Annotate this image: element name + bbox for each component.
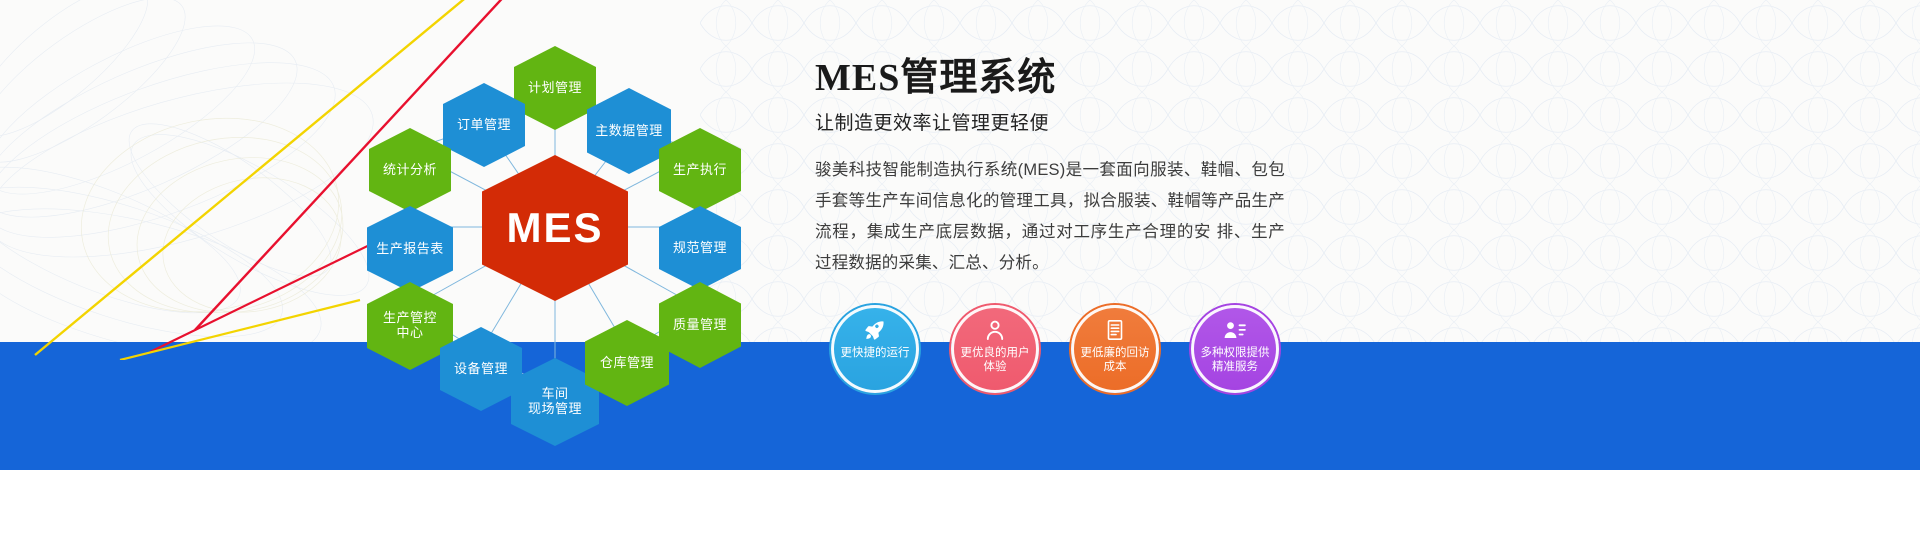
hex-label-workshop: 车间 现场管理 xyxy=(528,387,582,417)
invoice-icon xyxy=(1103,317,1127,343)
description-paragraph: 骏美科技智能制造执行系统(MES)是一套面向服装、鞋帽、包包手套等生产车间信息化… xyxy=(815,155,1285,279)
content-column: MES管理系统 让制造更效率让管理更轻便 骏美科技智能制造执行系统(MES)是一… xyxy=(815,58,1285,279)
hex-label-plan: 计划管理 xyxy=(528,81,582,96)
badge-permissions[interactable]: 多种权限提供精准服务 xyxy=(1180,305,1290,393)
badge-label-cost: 更低廉的回访成本 xyxy=(1074,346,1156,374)
badge-label-permissions: 多种权限提供精准服务 xyxy=(1194,346,1276,374)
hex-core-label: MES xyxy=(506,204,603,252)
mes-hex-diagram: MES 计划管理 订单管理 主数据管理 统计分析 生产执行 生产报告表 规范管理 xyxy=(330,20,790,430)
badge-label-fast: 更快捷的运行 xyxy=(837,346,914,360)
hex-label-order: 订单管理 xyxy=(457,118,511,133)
hex-label-quality: 质量管理 xyxy=(673,318,727,333)
page-subtitle: 让制造更效率让管理更轻便 xyxy=(815,108,1285,135)
rocket-icon xyxy=(863,317,887,343)
hex-label-control-center: 生产管控 中心 xyxy=(383,311,437,341)
user-icon xyxy=(983,317,1007,343)
feature-badges: 更快捷的运行 更优良的用户体验 xyxy=(820,305,1290,395)
badge-cost[interactable]: 更低廉的回访成本 xyxy=(1060,305,1170,393)
background-lower-white xyxy=(0,470,1920,550)
page-title: MES管理系统 xyxy=(815,58,1285,100)
hex-label-warehouse: 仓库管理 xyxy=(600,356,654,371)
badge-user-experience[interactable]: 更优良的用户体验 xyxy=(940,305,1050,393)
badge-fast[interactable]: 更快捷的运行 xyxy=(820,305,930,393)
hex-label-execution: 生产执行 xyxy=(673,163,727,178)
hex-label-report: 生产报告表 xyxy=(376,242,444,257)
hex-label-equipment: 设备管理 xyxy=(454,362,508,377)
id-card-icon xyxy=(1222,317,1248,343)
hex-label-standard: 规范管理 xyxy=(673,241,727,256)
mes-banner: MES 计划管理 订单管理 主数据管理 统计分析 生产执行 生产报告表 规范管理 xyxy=(0,0,1920,550)
hex-label-statistics: 统计分析 xyxy=(383,163,437,178)
badge-label-user-experience: 更优良的用户体验 xyxy=(954,346,1036,374)
hex-label-master-data: 主数据管理 xyxy=(595,124,663,139)
